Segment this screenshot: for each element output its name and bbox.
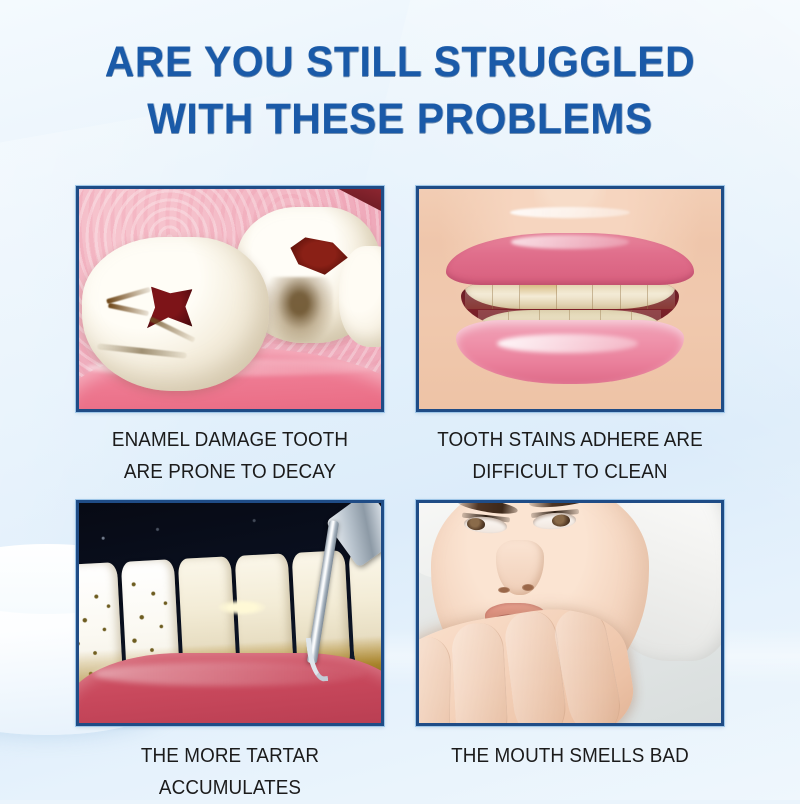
page-title: ARE YOU STILL STRUGGLED WITH THESE PROBL…	[20, 34, 780, 148]
photo-bad-breath	[416, 500, 724, 726]
scaler-tip	[305, 637, 328, 684]
photo-tooth-stains	[416, 186, 724, 412]
worried-woman-photo	[419, 503, 721, 723]
decay-fissure	[108, 302, 149, 315]
tooth-groove	[97, 344, 187, 360]
panel-caption: ENAMEL DAMAGE TOOTH ARE PRONE TO DECAY	[88, 424, 371, 488]
problem-panel-tartar: THE MORE TARTAR ACCUMULATES	[76, 500, 384, 804]
molar-front	[82, 237, 269, 391]
decay-fissure	[106, 287, 151, 305]
decay-stain	[266, 277, 332, 343]
upper-lip	[446, 233, 694, 285]
panel-caption: THE MORE TARTAR ACCUMULATES	[88, 740, 371, 804]
nostril-right	[522, 584, 534, 591]
iris	[466, 517, 485, 530]
problem-panel-bad-breath: THE MOUTH SMELLS BAD	[416, 500, 724, 772]
lower-lip	[456, 320, 684, 384]
photo-enamel-damage	[76, 186, 384, 412]
mouth	[446, 233, 694, 378]
lip-gloss-highlight	[510, 207, 631, 218]
cavity-main	[142, 287, 193, 329]
decayed-molars-illustration	[79, 189, 381, 409]
dental-scaler-tool	[299, 503, 368, 679]
problem-panel-tooth-stains: TOOTH STAINS ADHERE ARE DIFFICULT TO CLE…	[416, 186, 724, 488]
eyebrow-right	[528, 503, 594, 509]
iris	[552, 514, 571, 527]
problem-panel-enamel-damage: ENAMEL DAMAGE TOOTH ARE PRONE TO DECAY	[76, 186, 384, 488]
panel-caption: THE MOUTH SMELLS BAD	[428, 740, 711, 772]
tartar-scaling-illustration	[79, 503, 381, 723]
finger	[419, 637, 451, 723]
photo-tartar-removal	[76, 500, 384, 726]
panel-caption: TOOTH STAINS ADHERE ARE DIFFICULT TO CLE…	[428, 424, 711, 488]
nostril-left	[498, 587, 510, 594]
stained-smile-photo	[419, 189, 721, 409]
finger	[450, 622, 508, 723]
